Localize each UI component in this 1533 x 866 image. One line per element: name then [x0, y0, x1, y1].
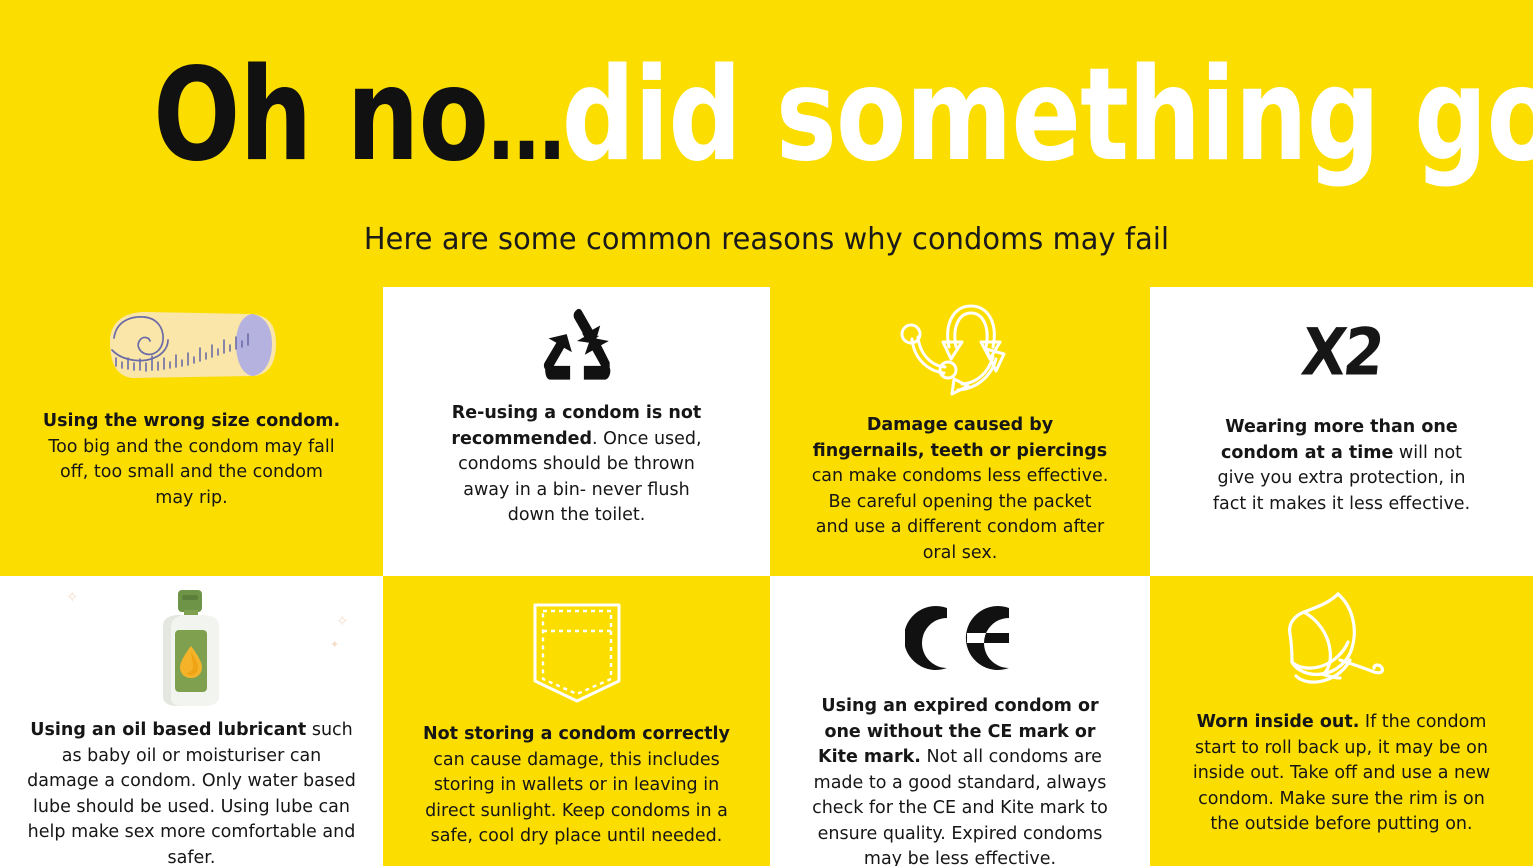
page-subtitle: Here are some common reasons why condoms… [31, 222, 1503, 257]
ce-mark-icon [905, 600, 1015, 676]
caption-bold: Damage caused by fingernails, teeth or p… [813, 415, 1107, 461]
measuring-tape-icon [102, 304, 282, 394]
caption-rest: can make condoms less effective. Be care… [812, 466, 1109, 563]
icon-container: X2 [1164, 313, 1519, 391]
icon-container [784, 600, 1136, 676]
caption-bold: Not storing a condom correctly [423, 724, 730, 744]
icon-container [14, 301, 369, 397]
reasons-grid: Using the wrong size condom. Too big and… [0, 287, 1533, 866]
poster-header: Oh no…did something go wrong? Here are s… [0, 0, 1533, 287]
recycle-icon [534, 304, 620, 390]
cell-caption: Wearing more than one condom at a time w… [1204, 415, 1480, 517]
cell-double-bagging: X2 Wearing more than one condom at a tim… [1150, 287, 1533, 576]
sparkle-icon: ✧ [336, 612, 349, 630]
cell-wrong-size: Using the wrong size condom. Too big and… [0, 287, 383, 576]
cell-caption: Using the wrong size condom. Too big and… [41, 409, 343, 511]
cell-storage: Not storing a condom correctly can cause… [383, 576, 770, 866]
cell-oil-based-lubricant: ✧ ✧ ✦ Using an oil based lubricant such … [0, 576, 383, 866]
icon-container [397, 301, 756, 393]
pocket-icon [527, 599, 627, 707]
title-dark-part: Oh no [153, 41, 488, 190]
sparkle-icon: ✧ [66, 588, 79, 606]
cell-caption: Re-using a condom is not recommended. On… [446, 401, 708, 529]
cell-re-using: Re-using a condom is not recommended. On… [383, 287, 770, 576]
peeled-banana-icon [1278, 588, 1406, 694]
title-light-part: did something go wrong? [562, 41, 1533, 190]
x2-icon: X2 [1299, 320, 1385, 385]
sparkle-icon: ✦ [330, 638, 339, 651]
caption-rest: Too big and the condom may fall off, too… [48, 437, 334, 508]
infographic-poster: Oh no…did something go wrong? Here are s… [0, 0, 1533, 866]
lotion-bottle-icon [149, 586, 235, 710]
icon-container [784, 297, 1136, 397]
caption-bold: Using an oil based lubricant [30, 720, 306, 740]
cell-fingernails-teeth-piercings: Damage caused by fingernails, teeth or p… [770, 287, 1150, 576]
cell-inside-out: Worn inside out. If the condom start to … [1150, 576, 1533, 866]
caption-rest: such as baby oil or moisturiser can dama… [27, 720, 356, 866]
piercing-jewellery-icon [892, 297, 1028, 397]
icon-container [397, 598, 756, 708]
cell-caption: Using an oil based lubricant such as bab… [25, 718, 359, 866]
cell-caption: Using an expired condom or one without t… [803, 694, 1117, 866]
caption-rest: can cause damage, this includes storing … [425, 750, 728, 847]
page-title: Oh no…did something go wrong? [153, 52, 1379, 180]
cell-caption: Worn inside out. If the condom start to … [1186, 710, 1498, 838]
cell-caption: Not storing a condom correctly can cause… [414, 722, 740, 850]
cell-expired-or-no-ce-mark: Using an expired condom or one without t… [770, 576, 1150, 866]
cell-caption: Damage caused by fingernails, teeth or p… [810, 413, 1110, 566]
caption-bold: Worn inside out. [1197, 712, 1360, 732]
icon-container [1164, 586, 1519, 696]
title-ellipsis: … [488, 70, 562, 182]
caption-bold: Using the wrong size condom. [43, 411, 340, 431]
